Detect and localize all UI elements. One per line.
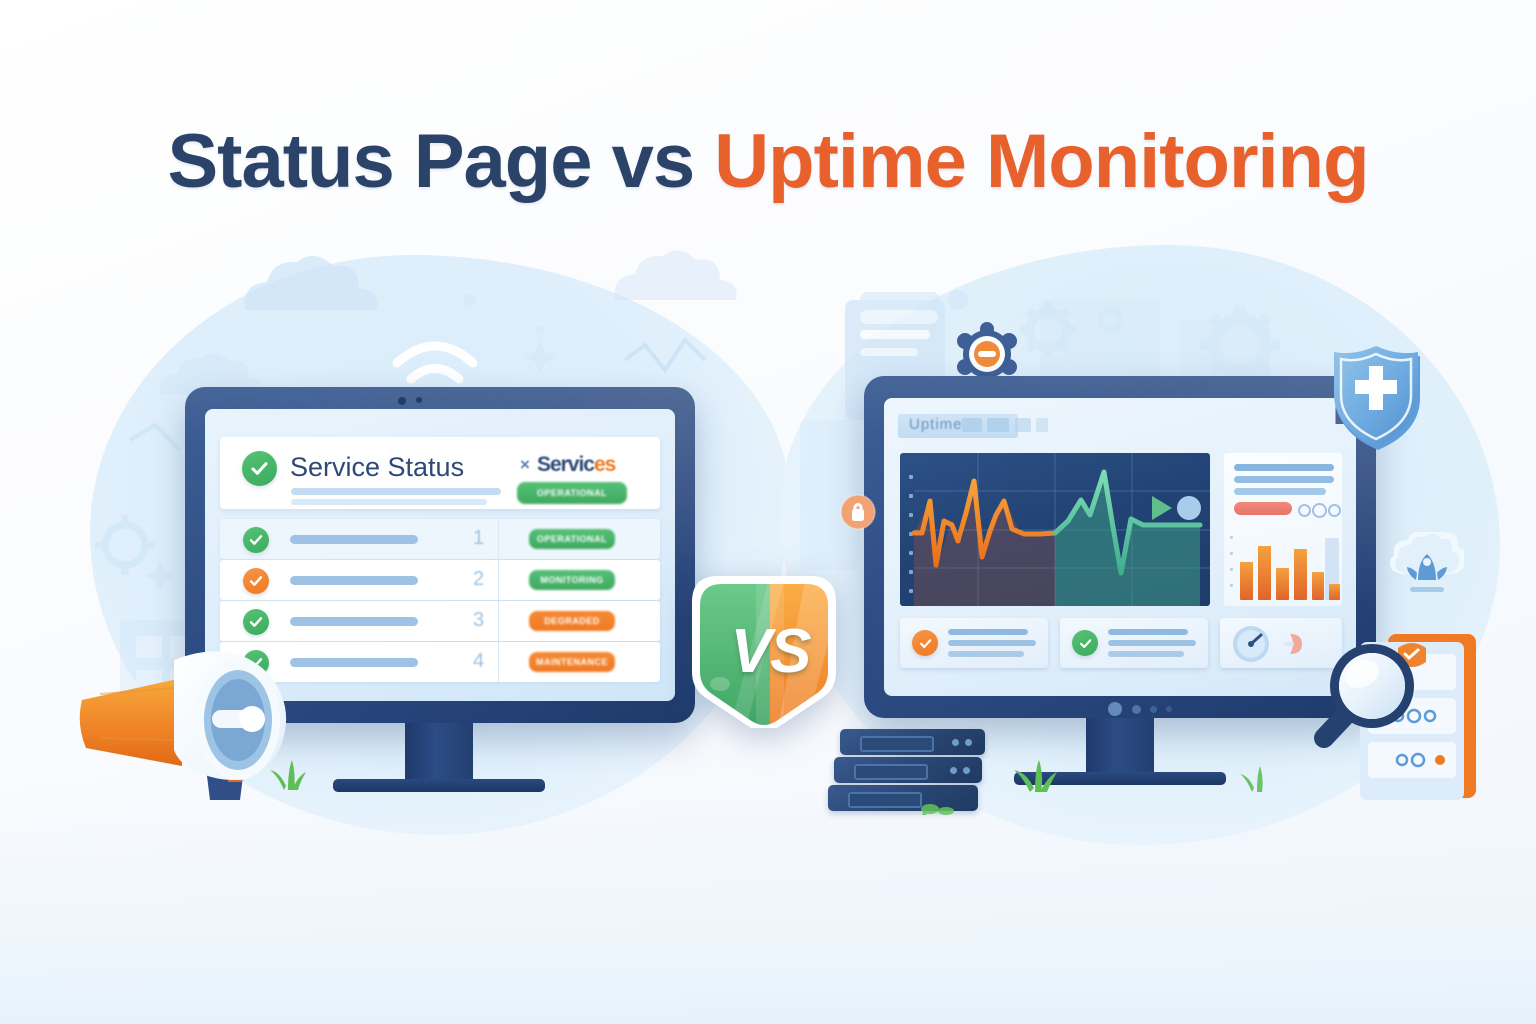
row-divider (498, 560, 499, 600)
server-slot (860, 736, 934, 752)
brand-name: Services (537, 453, 615, 477)
row-divider (498, 519, 499, 559)
row-check-icon (243, 527, 269, 553)
row-index: 3 (473, 609, 484, 632)
grass-decor (1238, 762, 1278, 792)
server-led (965, 739, 972, 746)
brand-logo: × Services (520, 453, 615, 477)
tab-placeholder-block (962, 418, 982, 432)
info-card-line (1108, 640, 1196, 646)
row-index: 1 (473, 527, 484, 550)
row-check-icon (243, 609, 269, 635)
server-led (963, 767, 970, 774)
header-bar-1 (291, 488, 501, 495)
grass-decor (918, 795, 964, 817)
info-card-check-icon (912, 630, 938, 656)
row-index: 4 (473, 650, 484, 673)
rocket-cloud-icon (1372, 532, 1464, 618)
row-status-badge[interactable]: Maintenance (529, 652, 615, 672)
side-panel-text-bar (1234, 464, 1334, 471)
server-slot (848, 792, 922, 808)
row-divider (498, 642, 499, 682)
info-card-line (1108, 629, 1188, 635)
right-monitor-indicator-dot (1166, 706, 1172, 712)
vs-badge: VS (686, 574, 854, 728)
illustration-canvas: Status Page vs Uptime Monitoring Service… (0, 0, 1536, 1024)
row-label-bar (290, 576, 418, 585)
row-status-badge[interactable]: Monitoring (529, 570, 615, 590)
info-card-line (1108, 651, 1184, 657)
status-header-title: Service Status (290, 452, 464, 483)
tab-placeholder-block (987, 418, 1009, 432)
row-check-icon (243, 568, 269, 594)
gauge-icon (1230, 624, 1274, 664)
server-slot (854, 764, 928, 780)
left-monitor-led-dot (416, 397, 422, 403)
header-bar-2 (291, 499, 487, 505)
right-monitor-indicator-dot (1150, 706, 1157, 713)
header-status-badge[interactable]: Operational (517, 482, 627, 504)
right-monitor-indicator-dot (1132, 705, 1141, 714)
grass-decor (268, 756, 308, 790)
right-monitor-power-dot (1108, 702, 1122, 716)
info-card-line (948, 651, 1024, 657)
row-status-badge[interactable]: Degraded (529, 611, 615, 631)
right-monitor-stand-neck (1086, 718, 1154, 772)
phone-icon (1282, 628, 1316, 660)
server-led (952, 739, 959, 746)
response-time-chart (900, 453, 1210, 606)
tab-placeholder-block (1036, 418, 1048, 432)
side-panel-dot-ring (1298, 504, 1311, 517)
left-monitor-stand-neck (405, 723, 473, 779)
info-card-check-icon (1072, 630, 1098, 656)
side-panel-text-bar (1234, 476, 1334, 483)
row-label-bar (290, 658, 418, 667)
grass-decor (1012, 756, 1058, 792)
row-divider (498, 601, 499, 641)
row-check-icon (243, 650, 269, 676)
tab-placeholder-block (1015, 418, 1031, 432)
left-monitor-camera-dot (398, 397, 406, 405)
side-panel-dot-ring (1312, 503, 1327, 518)
info-card-line (948, 640, 1036, 646)
side-panel-dot-ring (1328, 504, 1341, 517)
left-monitor-stand-base (333, 779, 545, 792)
info-card-line (948, 629, 1028, 635)
row-label-bar (290, 617, 418, 626)
dashboard-tab-label: Uptime (909, 416, 963, 433)
left-monitor-screen: Service Status × Services Operational 1 … (205, 409, 675, 701)
header-check-icon (242, 451, 277, 486)
row-index: 2 (473, 568, 484, 591)
brand-x-icon: × (520, 455, 530, 475)
title-part-status-page: Status Page vs (167, 119, 714, 204)
title-part-uptime-monitoring: Uptime Monitoring (714, 119, 1368, 204)
server-led (950, 767, 957, 774)
side-panel-alert-bar (1234, 502, 1292, 515)
page-title: Status Page vs Uptime Monitoring (0, 118, 1536, 205)
background-wave (0, 784, 1536, 1024)
row-label-bar (290, 535, 418, 544)
vs-badge-label: VS (686, 574, 854, 728)
side-panel-text-bar (1234, 488, 1326, 495)
row-status-badge[interactable]: Operational (529, 529, 615, 549)
chart-svg (900, 453, 1210, 606)
incident-bar-chart (1230, 526, 1342, 600)
right-monitor-screen: Uptime (884, 398, 1356, 696)
